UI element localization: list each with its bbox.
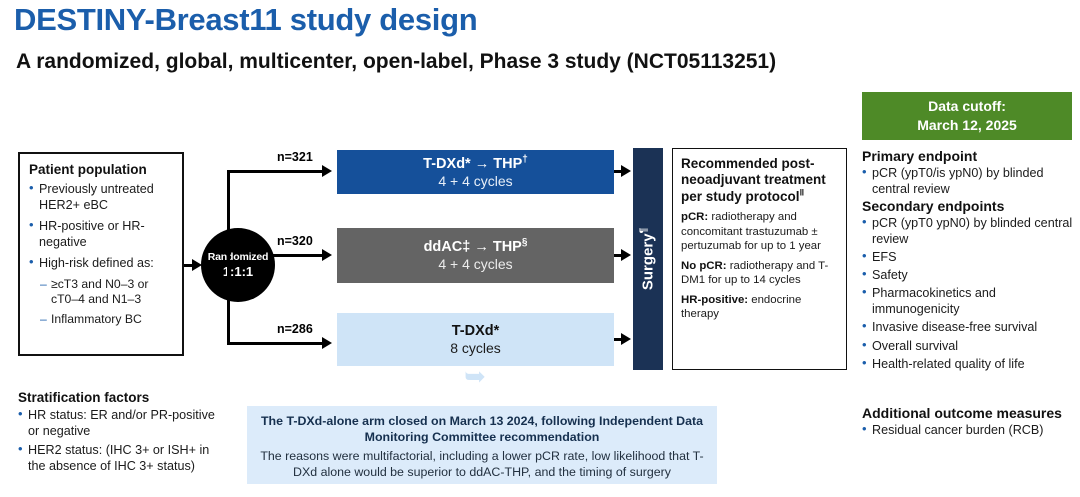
treatment-arm-3: T-DXd* 8 cycles bbox=[337, 313, 614, 366]
dash-icon: – bbox=[40, 277, 51, 308]
page-title: DESTINY-Breast11 study design bbox=[14, 2, 477, 38]
patient-population-box: Patient population • Previously untreate… bbox=[18, 152, 184, 356]
additional-outcomes-heading: Additional outcome measures bbox=[862, 405, 1076, 422]
treatment-arm-1: T-DXd* → THP† 4 + 4 cycles bbox=[337, 150, 614, 194]
list-item-label: Health-related quality of life bbox=[872, 356, 1076, 372]
secondary-endpoints-section: Secondary endpoints •pCR (ypT0 ypN0) by … bbox=[862, 198, 1076, 374]
list-item: •Health-related quality of life bbox=[862, 356, 1076, 372]
bullet-dot-icon: • bbox=[862, 165, 872, 197]
connector-line bbox=[270, 254, 323, 257]
list-item: • High-risk defined as: bbox=[29, 255, 174, 271]
arrow-head-icon bbox=[621, 165, 631, 177]
item-label: No pCR: bbox=[681, 260, 727, 272]
connector-spine bbox=[227, 170, 230, 345]
slide-canvas: DESTINY-Breast11 study design A randomiz… bbox=[0, 0, 1080, 497]
list-item: – Inflammatory BC bbox=[40, 312, 174, 328]
list-item-label: pCR (ypT0/is ypN0) by blinded central re… bbox=[872, 165, 1076, 197]
list-item-label: HER2 status: (IHC 3+ or ISH+ in the abse… bbox=[28, 442, 218, 474]
list-item: – ≥cT3 and N0–3 or cT0–4 and N1–3 bbox=[40, 277, 174, 308]
arrow-head-icon bbox=[621, 249, 631, 261]
stratification-heading: Stratification factors bbox=[18, 390, 218, 405]
additional-outcomes-section: Additional outcome measures •Residual ca… bbox=[862, 405, 1076, 440]
arm-cycles: 4 + 4 cycles bbox=[438, 256, 512, 272]
closure-note-body: The reasons were multifactorial, includi… bbox=[257, 448, 707, 480]
treatment-arm-2: ddAC‡ → THP§ 4 + 4 cycles bbox=[337, 228, 614, 283]
recommended-treatment-title: Recommended post-neoadjuvant treatment p… bbox=[681, 156, 838, 205]
chevron-down-icon: ➥ bbox=[456, 370, 494, 390]
list-item: • HR-positive or HR-negative bbox=[29, 218, 174, 250]
arm-n-label: n=286 bbox=[277, 322, 313, 336]
primary-endpoint-section: Primary endpoint • pCR (ypT0/is ypN0) by… bbox=[862, 148, 1076, 199]
list-item-label: Inflammatory BC bbox=[51, 312, 174, 328]
list-item: •pCR (ypT0 ypN0) by blinded central revi… bbox=[862, 215, 1076, 247]
bullet-dot-icon: • bbox=[862, 356, 872, 372]
list-item-label: High-risk defined as: bbox=[39, 255, 174, 271]
list-item: •Pharmacokinetics and immunogenicity bbox=[862, 285, 1076, 317]
list-item: •HER2 status: (IHC 3+ or ISH+ in the abs… bbox=[18, 442, 218, 474]
arrow-head-icon bbox=[621, 333, 631, 345]
randomization-node: Randomized 1:1:1 bbox=[201, 228, 275, 302]
arm-regimen-superscript: § bbox=[522, 237, 528, 248]
arrow-head-icon bbox=[322, 249, 332, 261]
arm-regimen: T-DXd* → THP† bbox=[423, 156, 528, 172]
arm-n-label: n=321 bbox=[277, 150, 313, 164]
recommended-treatment-item: HR-positive: endocrine therapy bbox=[681, 293, 838, 321]
arm-regimen-superscript: † bbox=[522, 154, 528, 165]
list-item-label: ≥cT3 and N0–3 or cT0–4 and N1–3 bbox=[51, 277, 174, 308]
bullet-dot-icon: • bbox=[18, 407, 28, 439]
bullet-dot-icon: • bbox=[862, 319, 872, 335]
data-cutoff-label: Data cutoff: bbox=[928, 97, 1006, 116]
list-item: •EFS bbox=[862, 249, 1076, 265]
connector-line bbox=[227, 170, 323, 173]
list-item-label: Invasive disease-free survival bbox=[872, 319, 1076, 335]
closure-note-heading: The T-DXd-alone arm closed on March 13 2… bbox=[257, 414, 707, 445]
stratification-section: Stratification factors •HR status: ER an… bbox=[18, 390, 218, 477]
list-item-label: Safety bbox=[872, 267, 1076, 283]
data-cutoff-date: March 12, 2025 bbox=[917, 116, 1017, 135]
list-item-label: Overall survival bbox=[872, 338, 1076, 354]
patient-population-title: Patient population bbox=[29, 162, 174, 177]
list-item: •Overall survival bbox=[862, 338, 1076, 354]
surgery-stage-bar: Surgery¶ bbox=[633, 148, 663, 370]
list-item: •Residual cancer burden (RCB) bbox=[862, 422, 1076, 438]
arm-cycles: 4 + 4 cycles bbox=[438, 173, 512, 189]
arm-regimen: T-DXd* bbox=[452, 323, 500, 339]
bullet-dot-icon: • bbox=[862, 249, 872, 265]
recommended-treatment-superscript: ‖ bbox=[800, 187, 805, 198]
bullet-dot-icon: • bbox=[29, 218, 39, 250]
connector-line bbox=[227, 342, 323, 345]
list-item: •HR status: ER and/or PR-positive or neg… bbox=[18, 407, 218, 439]
arm-cycles: 8 cycles bbox=[450, 340, 501, 356]
page-subtitle: A randomized, global, multicenter, open-… bbox=[16, 48, 856, 76]
bullet-dot-icon: • bbox=[862, 267, 872, 283]
bullet-dot-icon: • bbox=[862, 215, 872, 247]
bullet-dot-icon: • bbox=[862, 338, 872, 354]
secondary-endpoints-heading: Secondary endpoints bbox=[862, 198, 1076, 215]
arm-regimen-text: ddAC‡ → THP bbox=[424, 239, 522, 255]
list-item-label: HR status: ER and/or PR-positive or nega… bbox=[28, 407, 218, 439]
bullet-dot-icon: • bbox=[29, 255, 39, 271]
bullet-dot-icon: • bbox=[29, 181, 39, 213]
item-label: HR-positive: bbox=[681, 294, 748, 306]
list-item-label: Previously untreated HER2+ eBC bbox=[39, 181, 174, 213]
randomization-label: Randomized bbox=[208, 251, 268, 263]
bullet-dot-icon: • bbox=[862, 422, 872, 438]
surgery-label: Surgery bbox=[640, 233, 657, 290]
dash-icon: – bbox=[40, 312, 51, 328]
list-item: •Invasive disease-free survival bbox=[862, 319, 1076, 335]
list-item: •Safety bbox=[862, 267, 1076, 283]
list-item-label: Pharmacokinetics and immunogenicity bbox=[872, 285, 1076, 317]
recommended-treatment-item: pCR: radiotherapy and concomitant trastu… bbox=[681, 210, 838, 252]
list-item: • pCR (ypT0/is ypN0) by blinded central … bbox=[862, 165, 1076, 197]
arm-regimen-text: T-DXd* bbox=[452, 323, 500, 339]
surgery-label-rotated: Surgery¶ bbox=[640, 228, 657, 290]
bullet-dot-icon: • bbox=[862, 285, 872, 317]
bullet-dot-icon: • bbox=[18, 442, 28, 474]
arrow-head-icon bbox=[322, 337, 332, 349]
arm-n-label: n=320 bbox=[277, 234, 313, 248]
item-label: pCR: bbox=[681, 211, 708, 223]
recommended-treatment-box: Recommended post-neoadjuvant treatment p… bbox=[672, 148, 847, 370]
list-item-label: EFS bbox=[872, 249, 1076, 265]
arrow-head-icon bbox=[322, 165, 332, 177]
primary-endpoint-heading: Primary endpoint bbox=[862, 148, 1076, 165]
closure-note-box: The T-DXd-alone arm closed on March 13 2… bbox=[247, 406, 717, 484]
list-item-label: Residual cancer burden (RCB) bbox=[872, 422, 1076, 438]
surgery-superscript: ¶ bbox=[639, 228, 650, 234]
arm-regimen: ddAC‡ → THP§ bbox=[424, 239, 528, 255]
list-item-label: pCR (ypT0 ypN0) by blinded central revie… bbox=[872, 215, 1076, 247]
recommended-treatment-item: No pCR: radiotherapy and T-DM1 for up to… bbox=[681, 259, 838, 287]
data-cutoff-badge: Data cutoff: March 12, 2025 bbox=[862, 92, 1072, 140]
list-item: • Previously untreated HER2+ eBC bbox=[29, 181, 174, 213]
list-item-label: HR-positive or HR-negative bbox=[39, 218, 174, 250]
arm-regimen-text: T-DXd* → THP bbox=[423, 156, 522, 172]
